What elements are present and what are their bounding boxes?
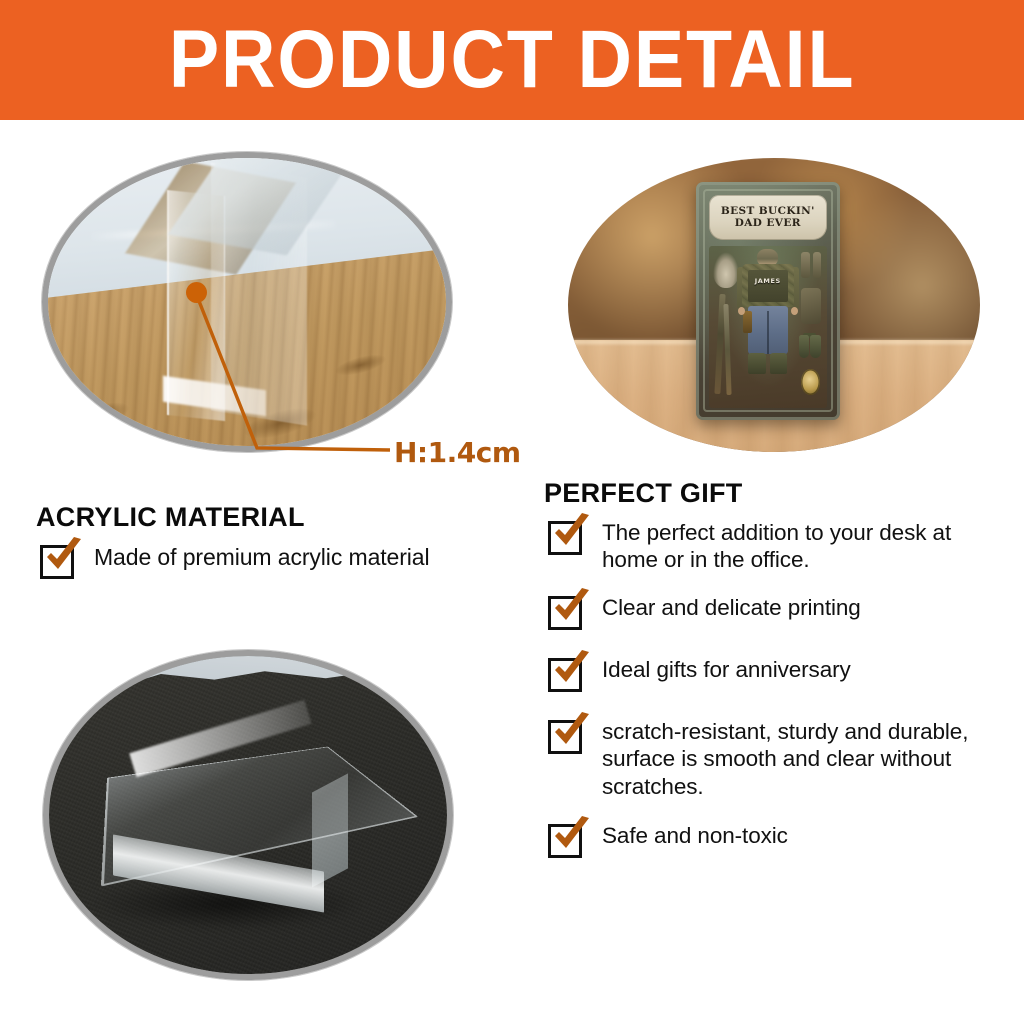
binoculars-icon [810, 335, 821, 358]
ammo-canister-icon [813, 252, 821, 278]
section-heading-perfect-gift: PERFECT GIFT [544, 478, 743, 509]
figure-boot [770, 353, 788, 374]
checkmark-glyph [549, 586, 593, 630]
wood-grain-knot [334, 351, 388, 380]
header-banner: PRODUCT DETAIL [0, 0, 1024, 120]
checkbox-checked-icon [548, 824, 582, 858]
binoculars-icon [799, 335, 810, 358]
feature-list-acrylic-material: Made of premium acrylic material [40, 543, 510, 599]
section-heading-acrylic-material: ACRYLIC MATERIAL [36, 502, 305, 533]
feature-text: Made of premium acrylic material [94, 543, 430, 571]
figure-holster [743, 311, 752, 334]
feature-text: Clear and delicate printing [602, 594, 861, 621]
feature-text: scratch-resistant, sturdy and durable, s… [602, 718, 1000, 800]
figure-leg-split [767, 311, 769, 355]
checkmark-glyph [549, 648, 593, 692]
hunting-bag-icon [801, 288, 821, 324]
checkmark-glyph [549, 814, 593, 858]
feature-item: Made of premium acrylic material [40, 543, 510, 579]
checkmark-glyph [549, 710, 593, 754]
feature-text: Safe and non-toxic [602, 822, 788, 849]
feature-item: Ideal gifts for anniversary [548, 656, 1000, 692]
plaque-title-line-1: BEST BUCKIN' [721, 206, 815, 217]
wood-grain-knot [70, 398, 131, 433]
figure-hand [791, 307, 798, 315]
feature-text: Ideal gifts for anniversary [602, 656, 851, 683]
feature-item: Safe and non-toxic [548, 822, 1000, 858]
plaque-title-banner: BEST BUCKIN' DAD EVER [709, 195, 827, 240]
rifle-icon [724, 304, 732, 395]
plaque-personalized-name: JAMES [748, 277, 788, 285]
feature-text: The perfect addition to your desk at hom… [602, 519, 1000, 574]
checkmark-glyph [41, 535, 85, 579]
figure-vest [748, 270, 788, 302]
checkmark-glyph [549, 511, 593, 555]
checkbox-checked-icon [548, 720, 582, 754]
page-title: PRODUCT DETAIL [169, 19, 856, 101]
photo-acrylic-block-on-slate [43, 650, 453, 980]
feature-item: Clear and delicate printing [548, 594, 1000, 630]
photo-acrylic-edge-closeup [42, 152, 452, 452]
checkbox-checked-icon [548, 521, 582, 555]
ammo-canister-icon [801, 252, 810, 278]
checkbox-checked-icon [548, 658, 582, 692]
checkbox-checked-icon [548, 596, 582, 630]
figure-boot [748, 353, 766, 374]
feature-item: scratch-resistant, sturdy and durable, s… [548, 718, 1000, 800]
callout-height-label: H:1.4cm [394, 436, 521, 469]
compass-icon [801, 369, 820, 395]
feature-list-perfect-gift: The perfect addition to your desk at hom… [548, 519, 1000, 858]
photo-plaque-on-table: BEST BUCKIN' DAD EVER JAMES [568, 158, 980, 452]
plaque-artwork-area: JAMES [709, 246, 827, 408]
callout-dot-icon [186, 282, 207, 303]
deer-antler-icon [713, 252, 739, 288]
feature-item: The perfect addition to your desk at hom… [548, 519, 1000, 574]
checkbox-checked-icon [40, 545, 74, 579]
plaque-title-line-2: DAD EVER [735, 218, 801, 229]
product-plaque-sign: BEST BUCKIN' DAD EVER JAMES [696, 182, 840, 420]
